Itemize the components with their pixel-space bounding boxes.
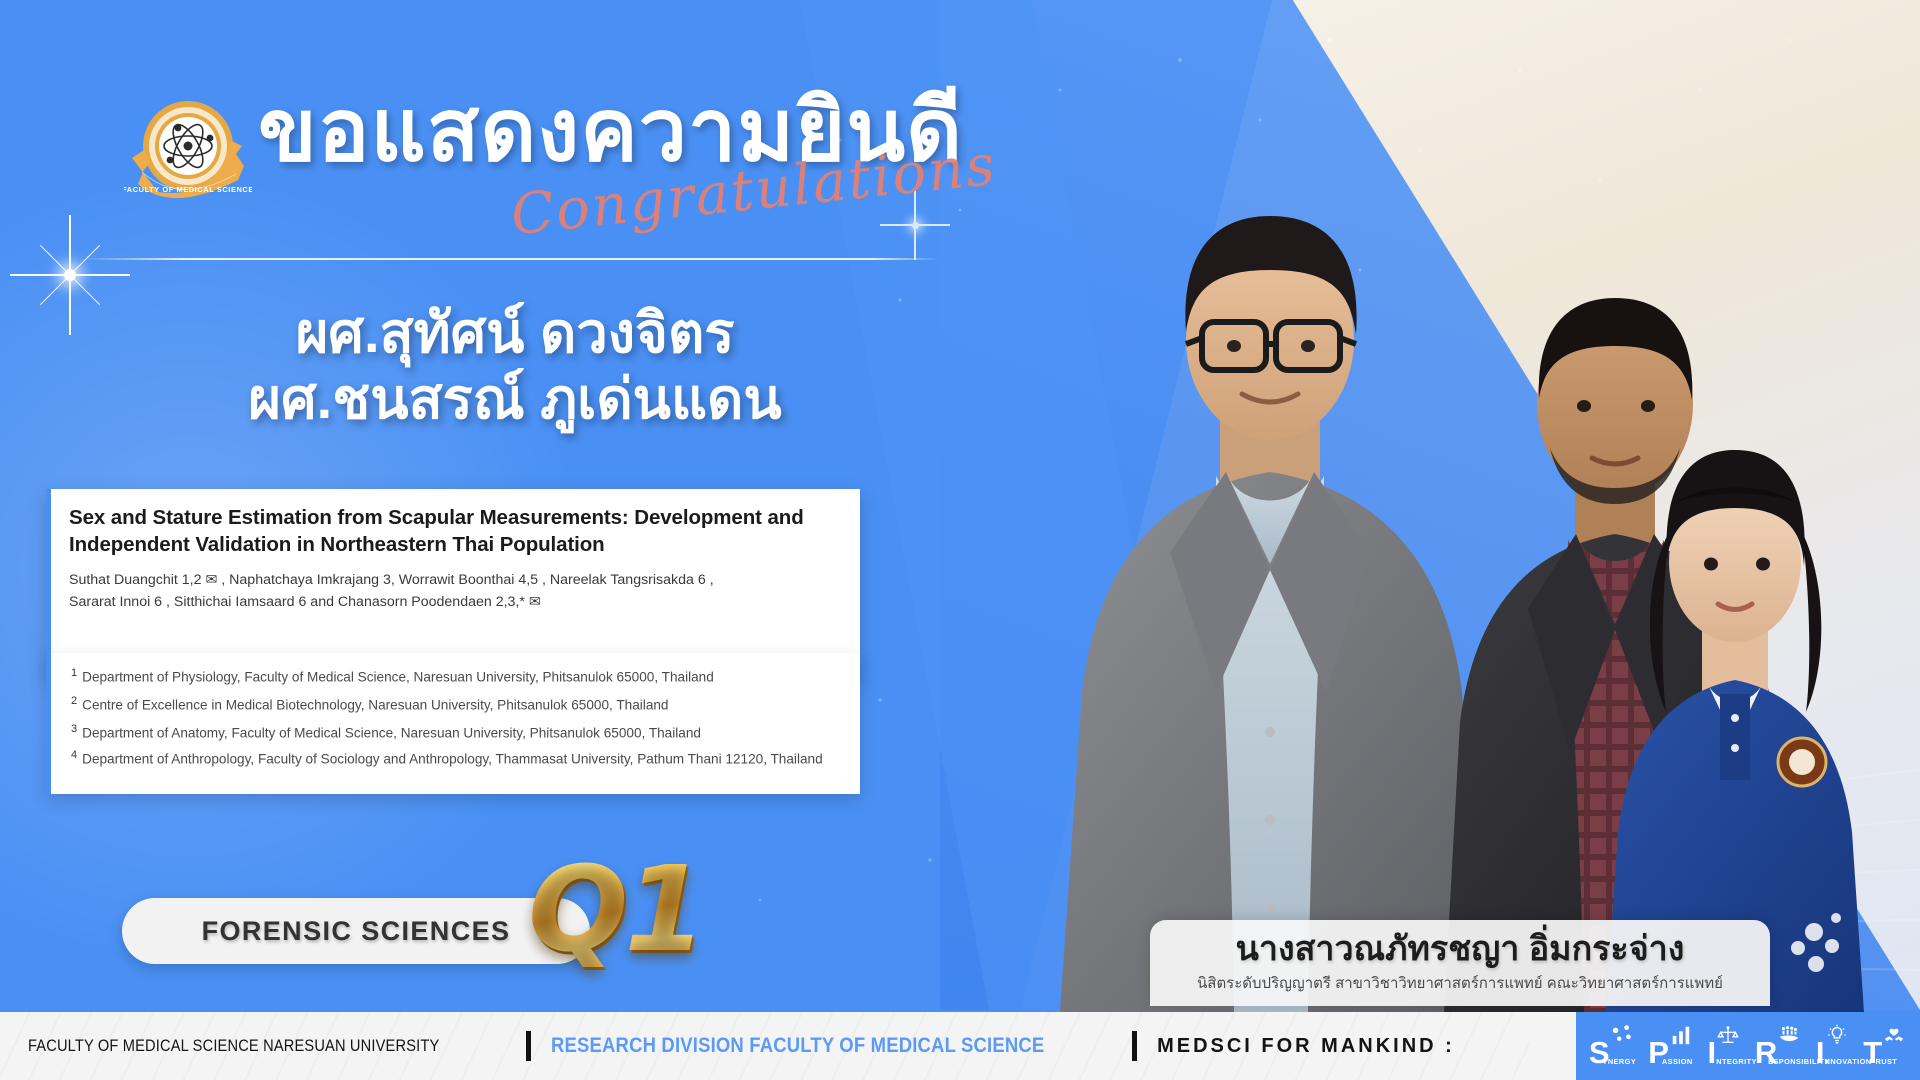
footer-divider: [1132, 1031, 1137, 1061]
affiliation-row: 3Department of Anatomy, Faculty of Medic…: [71, 719, 840, 747]
authors-line-1: Suthat Duangchit 1,2 ✉ , Naphatchaya Imk…: [69, 569, 840, 591]
congratulations-poster: FACULTY OF MEDICAL SCIENCE ขอแสดงความยิน…: [0, 0, 1920, 1080]
hand-people-icon: [1778, 1024, 1800, 1046]
spirit-word: YNERGY: [1603, 1057, 1637, 1066]
affiliation-row: 1Department of Physiology, Faculty of Me…: [71, 663, 840, 691]
spirit-item-responsibility: R ESPONSIBILITY: [1755, 1024, 1802, 1068]
publication-affiliations-card: 1Department of Physiology, Faculty of Me…: [46, 653, 860, 794]
footer-divider: [526, 1031, 531, 1061]
footer-slogan: MEDSCI FOR MANKIND :: [1157, 1035, 1455, 1058]
affiliation-number: 1: [71, 667, 77, 679]
journal-category-badge: FORENSIC SCIENCES: [122, 898, 590, 964]
honoree-names: ผศ.สุทัศน์ ดวงจิตร ผศ.ชนสรณ์ ภูเด่นแดน: [0, 300, 1030, 432]
affiliation-row: 4Department of Anthropology, Faculty of …: [71, 747, 840, 770]
faculty-emblem-logo: FACULTY OF MEDICAL SCIENCE: [124, 88, 252, 216]
publication-title: Sex and Stature Estimation from Scapular…: [69, 505, 840, 558]
spirit-item-integrity: I NTEGRITY: [1708, 1024, 1742, 1068]
spirit-word: RUST: [1876, 1057, 1898, 1066]
spirit-word: NTEGRITY: [1716, 1057, 1757, 1066]
publication-authors: Suthat Duangchit 1,2 ✉ , Naphatchaya Imk…: [69, 569, 840, 613]
affiliation-number: 4: [71, 749, 77, 761]
spirit-letter: I: [1816, 1037, 1825, 1068]
spirit-item-innovation: I NNOVATION: [1816, 1024, 1850, 1068]
affiliation-number: 3: [71, 723, 77, 735]
journal-category-label: FORENSIC SCIENCES: [202, 916, 511, 947]
quartile-rank-badge: Q1: [528, 840, 702, 978]
authors-line-2: Sararat Innoi 6 , Sitthichai Iamsaard 6 …: [69, 591, 840, 613]
honoree-name-1: ผศ.สุทัศน์ ดวงจิตร: [0, 300, 1030, 366]
scales-icon: [1717, 1024, 1739, 1046]
header-divider-line: [80, 258, 940, 260]
student-subtitle: นิสิตระดับปริญญาตรี สาขาวิชาวิทยาศาสตร์ก…: [1197, 971, 1723, 995]
spirit-item-trust: T RUST: [1863, 1024, 1907, 1068]
student-name: นางสาวณภัทรชญา อิ่มกระจ่าง: [1236, 931, 1685, 967]
spirit-values-panel: S YNERGY P ASSION I: [1576, 1012, 1920, 1080]
footer-research-division: RESEARCH DIVISION FACULTY OF MEDICAL SCI…: [551, 1034, 1044, 1058]
honoree-name-2: ผศ.ชนสรณ์ ภูเด่นแดน: [0, 366, 1030, 432]
footer-faculty-name: FACULTY OF MEDICAL SCIENCE NARESUAN UNIV…: [28, 1036, 439, 1056]
affiliation-text: Department of Anatomy, Faculty of Medica…: [82, 726, 701, 741]
logo-banner-text: FACULTY OF MEDICAL SCIENCE: [124, 185, 252, 194]
affiliation-text: Department of Anthropology, Faculty of S…: [82, 752, 823, 767]
student-name-plate: นางสาวณภัทรชญา อิ่มกระจ่าง นิสิตระดับปริ…: [1150, 920, 1770, 1006]
spirit-item-synergy: S YNERGY: [1589, 1024, 1635, 1068]
spirit-item-passion: P ASSION: [1648, 1024, 1694, 1068]
lightbulb-icon: [1826, 1024, 1848, 1046]
publication-title-card: Sex and Stature Estimation from Scapular…: [46, 489, 860, 679]
handshake-heart-icon: [1883, 1024, 1905, 1046]
poster-footer: FACULTY OF MEDICAL SCIENCE NARESUAN UNIV…: [0, 1012, 1920, 1080]
poster-header: FACULTY OF MEDICAL SCIENCE ขอแสดงความยิน…: [0, 40, 1000, 190]
affiliation-text: Centre of Excellence in Medical Biotechn…: [82, 698, 668, 713]
affiliation-text: Department of Physiology, Faculty of Med…: [82, 670, 714, 685]
spirit-letter: I: [1708, 1037, 1717, 1068]
spirit-word: ASSION: [1662, 1057, 1693, 1066]
affiliation-number: 2: [71, 695, 77, 707]
affiliation-row: 2Centre of Excellence in Medical Biotech…: [71, 691, 840, 719]
bar-chart-icon: [1670, 1024, 1692, 1046]
network-nodes-icon: [1611, 1024, 1633, 1046]
